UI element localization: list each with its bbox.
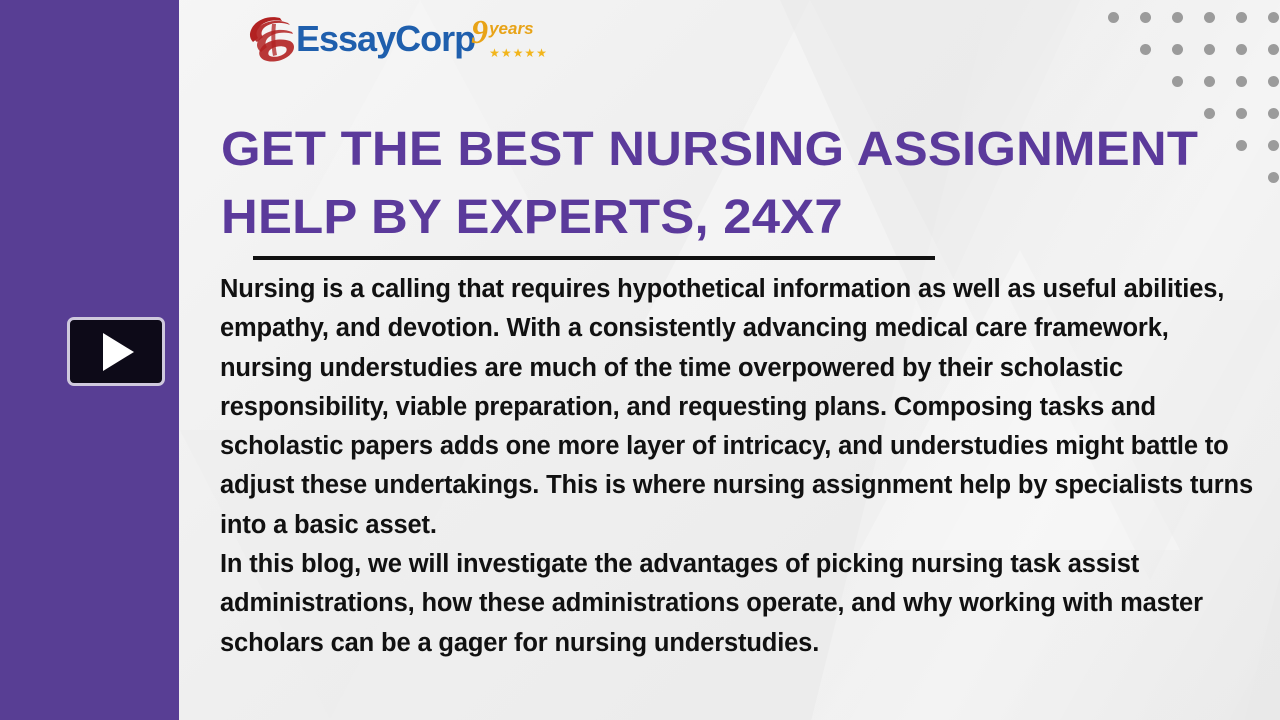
decorative-dot bbox=[1172, 76, 1183, 87]
decorative-dot bbox=[1204, 12, 1215, 23]
decorative-dot bbox=[1268, 76, 1279, 87]
logo-badge-number: 9 bbox=[471, 19, 488, 46]
decorative-dot bbox=[1268, 12, 1279, 23]
logo-star-rating: ★★★★★ bbox=[489, 47, 548, 59]
play-video-button[interactable] bbox=[67, 317, 165, 386]
page-title: GET THE BEST NURSING ASSIGNMENT HELP BY … bbox=[221, 116, 1280, 252]
decorative-dot bbox=[1236, 76, 1247, 87]
decorative-dot bbox=[1236, 12, 1247, 23]
decorative-dot bbox=[1108, 12, 1119, 23]
play-triangle-icon bbox=[103, 333, 134, 371]
essaycorp-swoosh-mark-icon bbox=[246, 14, 298, 64]
decorative-dot bbox=[1172, 12, 1183, 23]
logo-badge-unit: years bbox=[489, 20, 533, 37]
body-paragraph: In this blog, we will investigate the ad… bbox=[220, 545, 1266, 663]
decorative-dot bbox=[1172, 44, 1183, 55]
decorative-dot bbox=[1140, 12, 1151, 23]
body-copy: Nursing is a calling that requires hypot… bbox=[220, 270, 1266, 663]
decorative-dot bbox=[1140, 44, 1151, 55]
title-underline-rule bbox=[253, 256, 935, 260]
presentation-slide: EssayCorp 9 years ★★★★★ GET THE BEST NUR… bbox=[0, 0, 1280, 720]
decorative-dot bbox=[1204, 76, 1215, 87]
essaycorp-logo[interactable]: EssayCorp 9 years ★★★★★ bbox=[246, 13, 548, 65]
decorative-dot bbox=[1268, 44, 1279, 55]
decorative-dot bbox=[1204, 44, 1215, 55]
decorative-dot bbox=[1236, 44, 1247, 55]
logo-wordmark: EssayCorp bbox=[296, 21, 475, 57]
body-paragraph: Nursing is a calling that requires hypot… bbox=[220, 270, 1266, 545]
logo-anniversary-badge: 9 years ★★★★★ bbox=[471, 19, 548, 59]
